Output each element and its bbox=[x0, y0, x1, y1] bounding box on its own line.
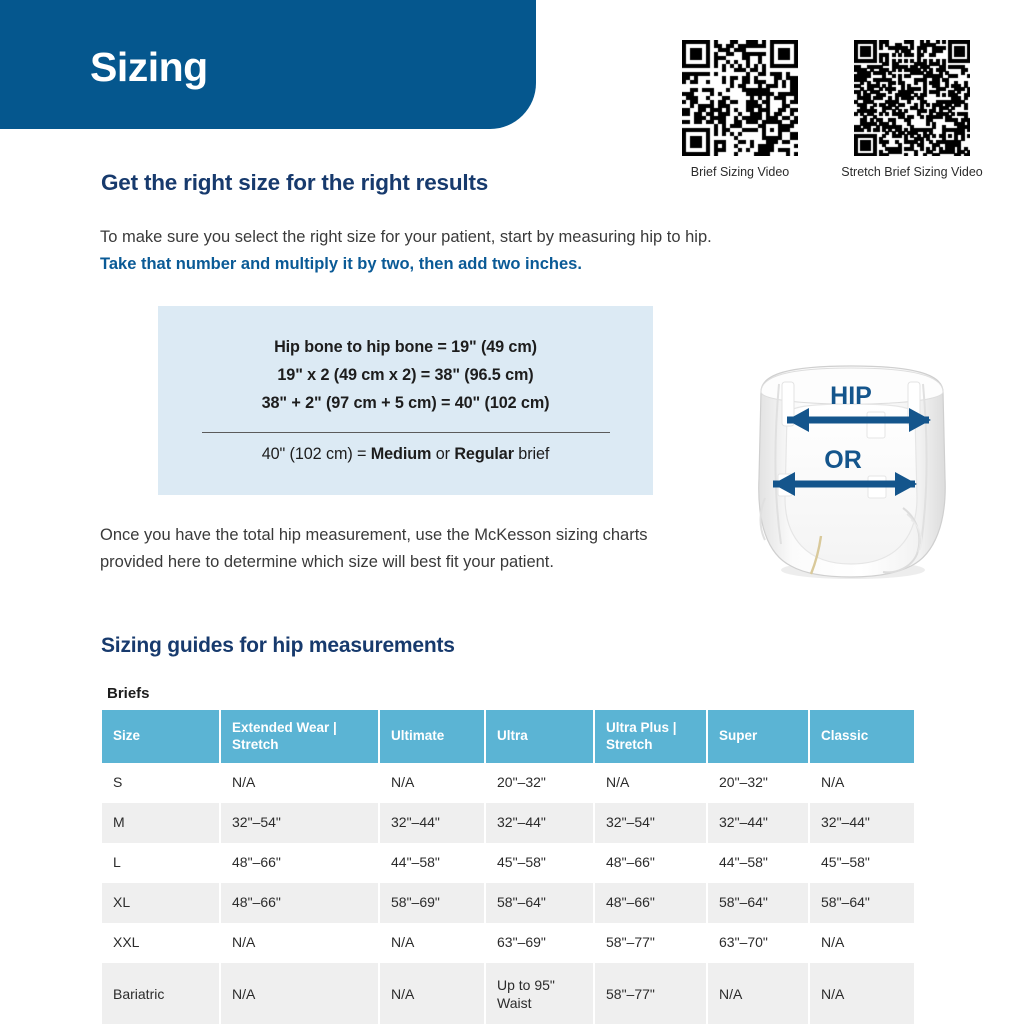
sizing-guide-page: Sizing Brief Sizing Video Stretch Brief … bbox=[0, 0, 1024, 1024]
cell-size: XXL bbox=[102, 923, 219, 963]
calc-line-1: Hip bone to hip bone = 19" (49 cm) bbox=[158, 334, 653, 362]
cell-classic: N/A bbox=[810, 763, 914, 803]
qr-caption-brief: Brief Sizing Video bbox=[660, 165, 820, 181]
table-row: L48"–66"44"–58"45"–58"48"–66"44"–58"45"–… bbox=[102, 843, 914, 883]
cell-super: 44"–58" bbox=[708, 843, 808, 883]
intro-paragraph: To make sure you select the right size f… bbox=[100, 224, 740, 277]
cell-extended-wear-stretch: N/A bbox=[221, 923, 378, 963]
sizing-guides-heading: Sizing guides for hip measurements bbox=[101, 634, 455, 658]
intro-paragraph-emphasis: Take that number and multiply it by two,… bbox=[100, 255, 582, 273]
column-header-super: Super bbox=[708, 710, 808, 763]
cell-ultra: Up to 95" Waist bbox=[486, 963, 593, 1024]
cell-ultra-plus-stretch: 58"–77" bbox=[595, 923, 706, 963]
cell-size: M bbox=[102, 803, 219, 843]
intro-heading: Get the right size for the right results bbox=[101, 170, 488, 196]
cell-ultra-plus-stretch: 48"–66" bbox=[595, 883, 706, 923]
brief-product-illustration: HIP OR bbox=[735, 358, 967, 590]
cell-ultra: 45"–58" bbox=[486, 843, 593, 883]
qr-block-stretch-brief-sizing-video[interactable]: Stretch Brief Sizing Video bbox=[832, 40, 992, 181]
cell-super: N/A bbox=[708, 963, 808, 1024]
page-title: Sizing bbox=[90, 47, 208, 88]
table-body: SN/AN/A20"–32"N/A20"–32"N/AM32"–54"32"–4… bbox=[102, 763, 914, 1024]
calc-result-size-regular: Regular bbox=[454, 445, 514, 463]
column-header-extended-wear: Extended Wear | Stretch bbox=[221, 710, 378, 763]
calc-result-conjunction: or bbox=[431, 445, 454, 463]
cell-ultimate: 58"–69" bbox=[380, 883, 484, 923]
cell-size: XL bbox=[102, 883, 219, 923]
cell-classic: N/A bbox=[810, 923, 914, 963]
cell-size: Bariatric bbox=[102, 963, 219, 1024]
followup-paragraph: Once you have the total hip measurement,… bbox=[100, 522, 705, 575]
stretch-brief-sizing-video-qr-icon[interactable] bbox=[854, 40, 970, 156]
cell-classic: N/A bbox=[810, 963, 914, 1024]
column-header-ultimate: Ultimate bbox=[380, 710, 484, 763]
table-header-row: Size Extended Wear | Stretch Ultimate Ul… bbox=[102, 710, 914, 763]
calc-result-size-medium: Medium bbox=[371, 445, 432, 463]
table-row: BariatricN/AN/AUp to 95" Waist58"–77"N/A… bbox=[102, 963, 914, 1024]
table-label-briefs: Briefs bbox=[107, 685, 150, 702]
cell-super: 58"–64" bbox=[708, 883, 808, 923]
cell-ultimate: 32"–44" bbox=[380, 803, 484, 843]
cell-ultra: 58"–64" bbox=[486, 883, 593, 923]
column-header-classic: Classic bbox=[810, 710, 914, 763]
cell-ultimate: N/A bbox=[380, 923, 484, 963]
calc-line-2: 19" x 2 (49 cm x 2) = 38" (96.5 cm) bbox=[158, 362, 653, 390]
cell-ultimate: N/A bbox=[380, 763, 484, 803]
cell-ultra: 32"–44" bbox=[486, 803, 593, 843]
cell-super: 32"–44" bbox=[708, 803, 808, 843]
cell-extended-wear-stretch: 48"–66" bbox=[221, 843, 378, 883]
cell-size: L bbox=[102, 843, 219, 883]
cell-super: 63"–70" bbox=[708, 923, 808, 963]
intro-paragraph-plain: To make sure you select the right size f… bbox=[100, 228, 712, 246]
table-row: XXLN/AN/A63"–69"58"–77"63"–70"N/A bbox=[102, 923, 914, 963]
or-label: OR bbox=[824, 446, 862, 474]
hip-label: HIP bbox=[830, 382, 872, 410]
column-header-ultra: Ultra bbox=[486, 710, 593, 763]
cell-ultra: 20"–32" bbox=[486, 763, 593, 803]
cell-ultra-plus-stretch: 58"–77" bbox=[595, 963, 706, 1024]
cell-ultimate: 44"–58" bbox=[380, 843, 484, 883]
cell-super: 20"–32" bbox=[708, 763, 808, 803]
table-row: SN/AN/A20"–32"N/A20"–32"N/A bbox=[102, 763, 914, 803]
cell-ultra-plus-stretch: 48"–66" bbox=[595, 843, 706, 883]
cell-ultra-plus-stretch: N/A bbox=[595, 763, 706, 803]
calculation-box: Hip bone to hip bone = 19" (49 cm) 19" x… bbox=[158, 306, 653, 495]
calc-line-3: 38" + 2" (97 cm + 5 cm) = 40" (102 cm) bbox=[158, 390, 653, 418]
cell-ultra: 63"–69" bbox=[486, 923, 593, 963]
cell-ultimate: N/A bbox=[380, 963, 484, 1024]
brief-sizing-video-qr-icon[interactable] bbox=[682, 40, 798, 156]
cell-size: S bbox=[102, 763, 219, 803]
cell-classic: 45"–58" bbox=[810, 843, 914, 883]
cell-extended-wear-stretch: N/A bbox=[221, 963, 378, 1024]
column-header-ultra-plus: Ultra Plus | Stretch bbox=[595, 710, 706, 763]
calc-result-suffix: brief bbox=[514, 445, 549, 463]
cell-extended-wear-stretch: 32"–54" bbox=[221, 803, 378, 843]
qr-caption-stretch: Stretch Brief Sizing Video bbox=[832, 165, 992, 181]
cell-classic: 32"–44" bbox=[810, 803, 914, 843]
cell-extended-wear-stretch: 48"–66" bbox=[221, 883, 378, 923]
header-band bbox=[0, 0, 536, 129]
table-row: M32"–54"32"–44"32"–44"32"–54"32"–44"32"–… bbox=[102, 803, 914, 843]
cell-classic: 58"–64" bbox=[810, 883, 914, 923]
calc-result-prefix: 40" (102 cm) = bbox=[262, 445, 371, 463]
cell-ultra-plus-stretch: 32"–54" bbox=[595, 803, 706, 843]
qr-block-brief-sizing-video[interactable]: Brief Sizing Video bbox=[660, 40, 820, 181]
calc-result: 40" (102 cm) = Medium or Regular brief bbox=[158, 445, 653, 464]
table-row: XL48"–66"58"–69"58"–64"48"–66"58"–64"58"… bbox=[102, 883, 914, 923]
brief-diagram-svg: HIP OR bbox=[735, 358, 967, 590]
briefs-sizing-table: Size Extended Wear | Stretch Ultimate Ul… bbox=[100, 710, 916, 1024]
calc-divider bbox=[202, 432, 610, 433]
column-header-size: Size bbox=[102, 710, 219, 763]
cell-extended-wear-stretch: N/A bbox=[221, 763, 378, 803]
